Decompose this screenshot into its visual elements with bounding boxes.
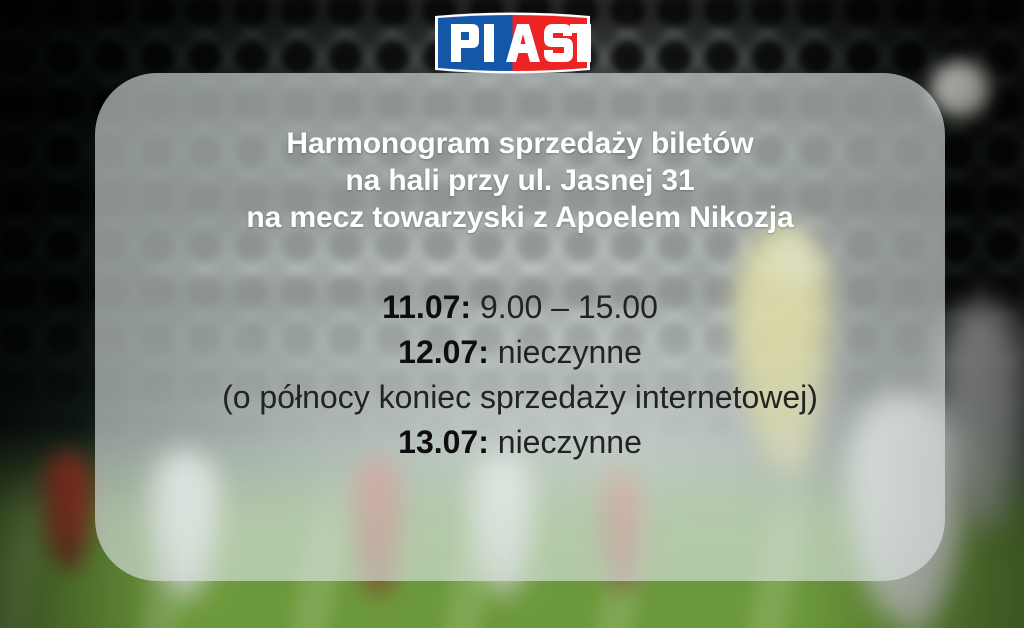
schedule-row: 13.07: nieczynne xyxy=(95,420,945,465)
content-card-inner: Harmonogram sprzedaży biletów na hali pr… xyxy=(95,73,945,581)
schedule-list: 11.07: 9.00 – 15.00 12.07: nieczynne (o … xyxy=(95,285,945,465)
schedule-note: (o północy koniec sprzedaży internetowej… xyxy=(95,375,945,420)
page-title: Harmonogram sprzedaży biletów na hali pr… xyxy=(95,125,945,236)
schedule-value: 9.00 – 15.00 xyxy=(471,289,658,325)
content-card: Harmonogram sprzedaży biletów na hali pr… xyxy=(95,73,945,581)
schedule-value: nieczynne xyxy=(489,334,642,370)
schedule-date: 11.07: xyxy=(382,289,471,325)
schedule-row: 11.07: 9.00 – 15.00 xyxy=(95,285,945,330)
schedule-date: 12.07: xyxy=(398,334,489,370)
schedule-date: 13.07: xyxy=(398,424,489,460)
headline-line-1: Harmonogram sprzedaży biletów xyxy=(95,125,945,162)
headline-line-3: na mecz towarzyski z Apoelem Nikozja xyxy=(95,199,945,236)
piast-logo xyxy=(434,12,591,74)
headline-line-2: na hali przy ul. Jasnej 31 xyxy=(95,162,945,199)
poster-root: Harmonogram sprzedaży biletów na hali pr… xyxy=(0,0,1024,628)
schedule-row: 12.07: nieczynne xyxy=(95,330,945,375)
schedule-value: nieczynne xyxy=(489,424,642,460)
